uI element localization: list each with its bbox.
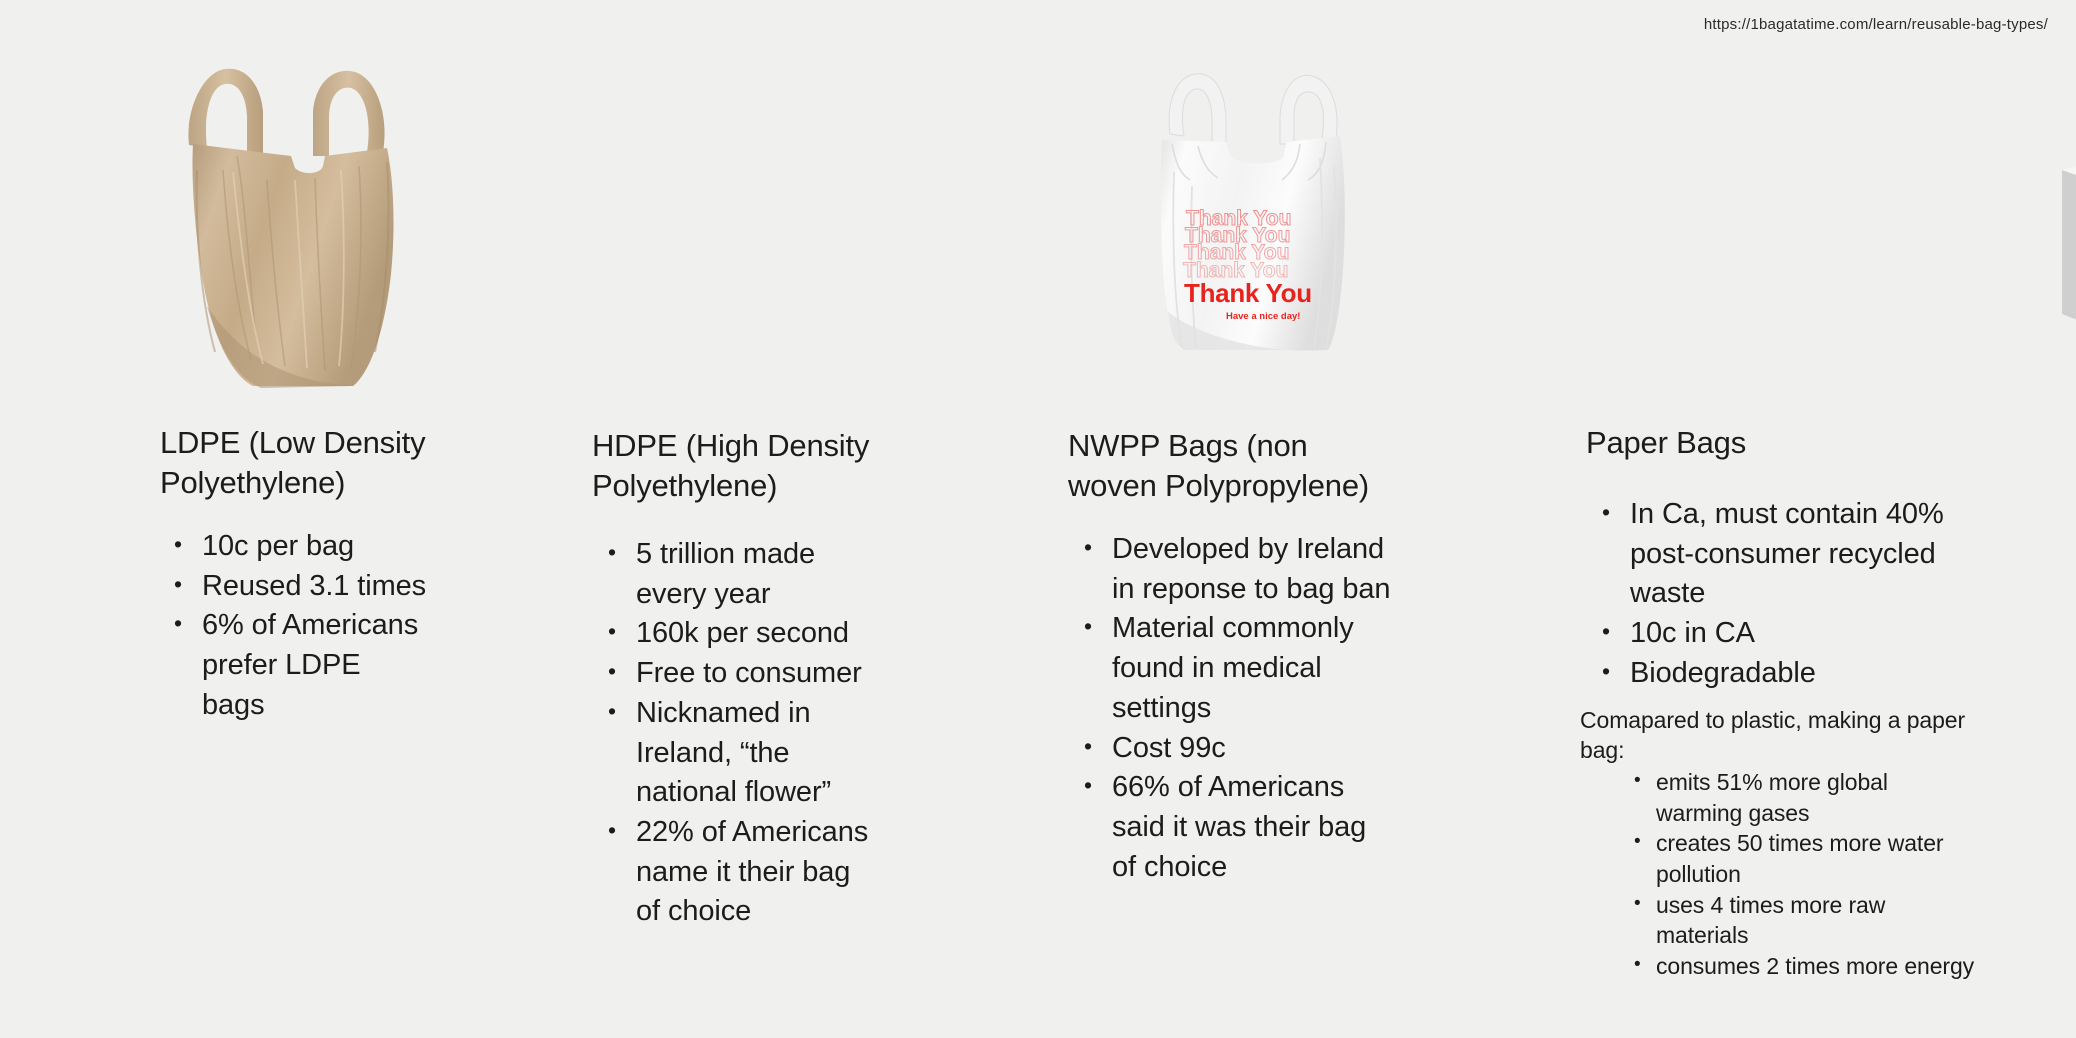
list-item: uses 4 times more raw materials: [1632, 890, 1980, 951]
list-item: consumes 2 times more energy: [1632, 951, 1980, 982]
list-item: 160k per second: [602, 614, 882, 654]
list-item: emits 51% more global warming gases: [1632, 767, 1980, 828]
list-item: 22% of Americans name it their bag of ch…: [602, 813, 882, 932]
page-title-paper: Paper Bags: [1586, 423, 1926, 463]
list-item: 6% of Americans prefer LDPE bags: [168, 606, 428, 725]
ldpe-bag-svg: [175, 60, 445, 400]
list-item: Free to consumer: [602, 654, 882, 694]
page-title-hdpe: HDPE (High Density Polyethylene): [592, 426, 882, 505]
column-hdpe: Thank You Thank You Thank You Thank You …: [520, 0, 990, 1038]
page-title-nwpp: NWPP Bags (non woven Polypropylene): [1068, 426, 1398, 505]
list-item: 5 trillion made every year: [602, 535, 882, 614]
list-item: 66% of Americans said it was their bag o…: [1078, 768, 1398, 887]
list-item: In Ca, must contain 40% post-consumer re…: [1596, 495, 1996, 614]
paper-comparison-sublist: emits 51% more global warming gases crea…: [1580, 767, 1980, 981]
bullet-list-paper: In Ca, must contain 40% post-consumer re…: [1596, 495, 1996, 694]
bullet-list-hdpe: 5 trillion made every year 160k per seco…: [602, 535, 882, 932]
list-item: 10c per bag: [168, 527, 428, 567]
list-item: Biodegradable: [1596, 654, 1996, 694]
nwpp-image-stage: REAL IMPRESSION LIMITED REAL IMPRESSION …: [990, 0, 1510, 400]
list-item: 10c in CA: [1596, 614, 1996, 654]
column-nwpp: REAL IMPRESSION LIMITED REAL IMPRESSION …: [990, 0, 1510, 1038]
paper-image-stage: [1510, 0, 2076, 400]
note-intro-text: Comapared to plastic, making a paper bag…: [1580, 705, 1980, 765]
bullet-list-ldpe: 10c per bag Reused 3.1 times 6% of Ameri…: [168, 527, 428, 726]
column-ldpe: LDPE (Low Density Polyethylene) 10c per …: [0, 0, 520, 1038]
hdpe-image-stage: Thank You Thank You Thank You Thank You …: [520, 0, 990, 400]
list-item: Nicknamed in Ireland, “the national flow…: [602, 694, 882, 813]
ldpe-image-stage: [0, 0, 520, 400]
list-item: Developed by Ireland in reponse to bag b…: [1078, 530, 1398, 609]
paper-comparison-note: Comapared to plastic, making a paper bag…: [1580, 705, 1980, 981]
column-paper: Paper Bags In Ca, must contain 40% post-…: [1510, 0, 2076, 1038]
list-item: creates 50 times more water pollution: [1632, 828, 1980, 889]
list-item: Reused 3.1 times: [168, 567, 428, 607]
page-title-ldpe: LDPE (Low Density Polyethylene): [160, 423, 460, 502]
list-item: Cost 99c: [1078, 729, 1398, 769]
list-item: Material commonly found in medical setti…: [1078, 609, 1398, 728]
ldpe-plastic-t-shirt-bag-image: [175, 60, 445, 400]
bullet-list-nwpp: Developed by Ireland in reponse to bag b…: [1078, 530, 1398, 887]
